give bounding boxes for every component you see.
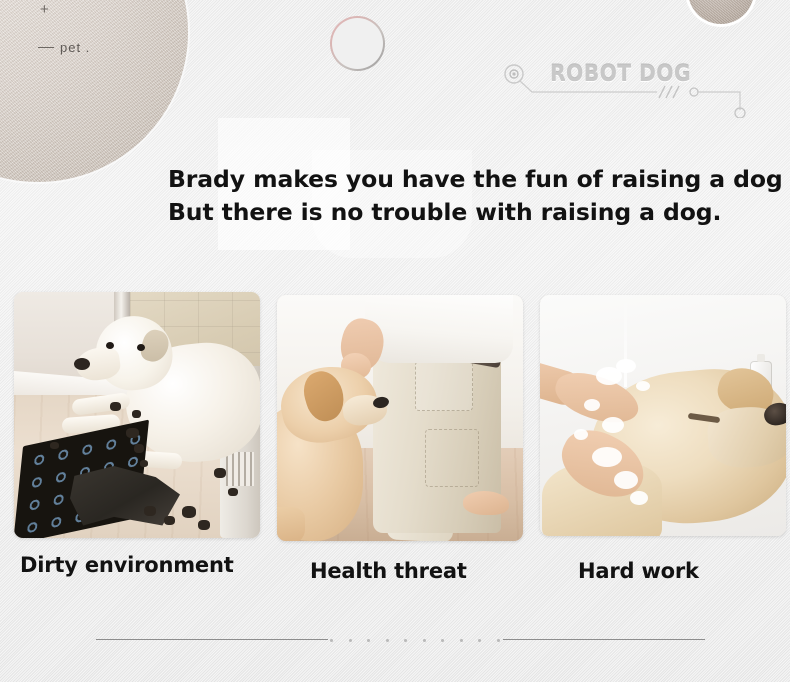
headline-line-1: Brady makes you have the fun of raising … — [168, 163, 768, 196]
divider-dot — [460, 639, 463, 642]
brand-tagline-label: pet . — [60, 40, 90, 55]
divider-rule-left — [96, 639, 328, 640]
divider-dot — [423, 639, 426, 642]
robot-dog-logo-text: ROBOT DOG — [550, 62, 691, 87]
photo-scene-1 — [14, 292, 260, 538]
product-page: + pet . ROBOT DOG Brady makes you have t… — [0, 0, 790, 682]
divider-rule-right — [503, 639, 705, 640]
divider-dots — [330, 634, 500, 646]
feature-photo-row — [0, 292, 790, 542]
divider-dot — [478, 639, 481, 642]
plus-icon: + — [40, 2, 49, 17]
feature-photo-dirty-environment[interactable] — [14, 292, 260, 538]
divider-dot — [497, 639, 500, 642]
caption-hard-work: Hard work — [578, 559, 699, 583]
divider-dot — [386, 639, 389, 642]
divider-dot — [330, 639, 333, 642]
brand-tagline: pet . — [38, 40, 90, 55]
feature-photo-hard-work[interactable] — [540, 295, 786, 536]
robot-dog-logo: ROBOT DOG — [502, 62, 752, 118]
caption-health-threat: Health threat — [310, 559, 467, 583]
photo-scene-3 — [540, 295, 786, 536]
divider-dot — [441, 639, 444, 642]
divider-dot — [367, 639, 370, 642]
divider-dot — [349, 639, 352, 642]
decorative-corner-circle — [688, 0, 754, 24]
page-headline: Brady makes you have the fun of raising … — [168, 163, 768, 229]
decorative-ring — [330, 16, 385, 71]
headline-line-2: But there is no trouble with raising a d… — [168, 196, 768, 229]
caption-dirty-environment: Dirty environment — [20, 553, 234, 577]
decorative-texture-circle — [0, 0, 188, 182]
bottom-divider — [0, 634, 790, 646]
divider-dot — [404, 639, 407, 642]
dash-icon — [38, 47, 54, 49]
photo-scene-2 — [277, 295, 523, 541]
feature-photo-health-threat[interactable] — [277, 295, 523, 541]
